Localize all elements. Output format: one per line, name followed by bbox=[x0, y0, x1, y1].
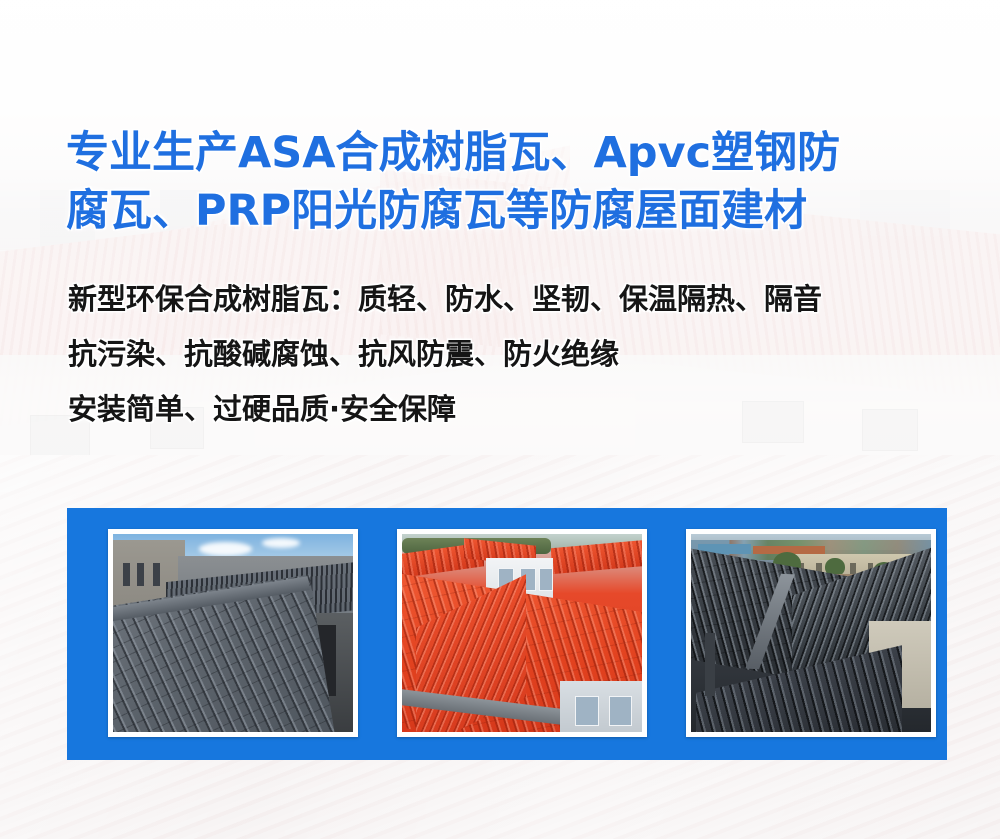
feature-list: 新型环保合成树脂瓦：质轻、防水、坚韧、保温隔热、隔音 抗污染、抗酸碱腐蚀、抗风防… bbox=[68, 272, 968, 437]
feature-line-1: 新型环保合成树脂瓦：质轻、防水、坚韧、保温隔热、隔音 bbox=[68, 272, 968, 327]
headline-line-2: 腐瓦、PRP阳光防腐瓦等防腐屋面建材 bbox=[66, 182, 946, 240]
gallery-photo-3[interactable] bbox=[686, 529, 936, 737]
black-resin-tile-roof-photo bbox=[691, 534, 931, 732]
red-resin-tile-roof-photo bbox=[402, 534, 642, 732]
banner-headline: 专业生产ASA合成树脂瓦、Apvc塑钢防 腐瓦、PRP阳光防腐瓦等防腐屋面建材 bbox=[66, 124, 946, 240]
photo-row bbox=[108, 529, 936, 737]
product-banner: 专业生产ASA合成树脂瓦、Apvc塑钢防 腐瓦、PRP阳光防腐瓦等防腐屋面建材 … bbox=[0, 0, 1000, 839]
gallery-photo-2[interactable] bbox=[397, 529, 647, 737]
feature-line-2: 抗污染、抗酸碱腐蚀、抗风防震、防火绝缘 bbox=[68, 327, 968, 382]
gallery-photo-1[interactable] bbox=[108, 529, 358, 737]
photo-gallery-panel bbox=[67, 508, 947, 760]
feature-line-3: 安装简单、过硬品质·安全保障 bbox=[68, 382, 968, 437]
grey-barrel-tile-roof-photo bbox=[113, 534, 353, 732]
headline-line-1: 专业生产ASA合成树脂瓦、Apvc塑钢防 bbox=[66, 128, 840, 178]
